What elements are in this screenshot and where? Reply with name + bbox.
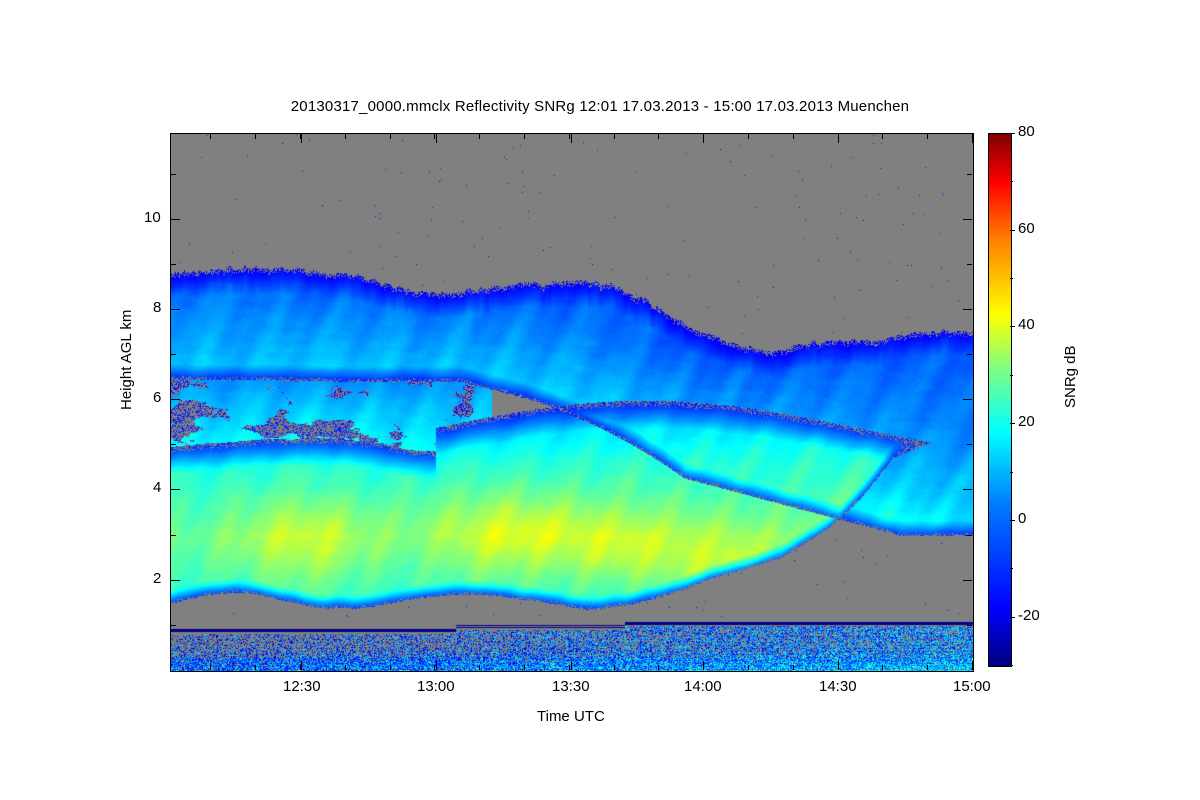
colorbar xyxy=(988,133,1012,667)
tick-mark xyxy=(614,134,615,139)
tick-mark xyxy=(569,665,570,670)
chart-title: 20130317_0000.mmclx Reflectivity SNRg 12… xyxy=(0,98,1200,115)
tick-mark xyxy=(345,665,346,670)
tick-mark xyxy=(963,399,972,400)
colorbar-tick-label: 80 xyxy=(1018,123,1035,140)
reflectivity-heatmap xyxy=(171,134,973,671)
tick-mark xyxy=(390,134,391,139)
colorbar-tick xyxy=(1010,423,1015,424)
tick-mark xyxy=(967,354,972,355)
tick-mark xyxy=(171,264,176,265)
colorbar-tick-label: -20 xyxy=(1018,607,1040,624)
x-tick-label: 14:30 xyxy=(819,678,857,695)
colorbar-minor-tick xyxy=(1010,278,1013,279)
tick-mark xyxy=(882,134,883,139)
tick-mark xyxy=(571,134,572,143)
tick-mark xyxy=(434,134,435,139)
tick-mark xyxy=(927,665,928,670)
tick-mark xyxy=(963,219,972,220)
tick-mark xyxy=(436,134,437,143)
tick-mark xyxy=(436,661,437,670)
colorbar-label: SNRg dB xyxy=(1062,345,1079,408)
tick-mark xyxy=(479,665,480,670)
tick-mark xyxy=(748,134,749,139)
tick-mark xyxy=(838,134,839,139)
tick-mark xyxy=(434,665,435,670)
y-axis-label: Height AGL km xyxy=(118,310,135,410)
tick-mark xyxy=(658,665,659,670)
y-tick-label: 10 xyxy=(144,209,161,226)
tick-mark xyxy=(927,134,928,139)
x-tick-label: 14:00 xyxy=(684,678,722,695)
tick-mark xyxy=(972,134,973,143)
y-tick-label: 2 xyxy=(153,570,161,587)
x-tick-label: 15:00 xyxy=(953,678,991,695)
tick-mark xyxy=(300,134,301,139)
colorbar-minor-tick xyxy=(1010,568,1013,569)
colorbar-tick xyxy=(1010,133,1015,134)
tick-mark xyxy=(210,134,211,139)
tick-mark xyxy=(171,444,176,445)
tick-mark xyxy=(171,354,176,355)
tick-mark xyxy=(171,174,176,175)
tick-mark xyxy=(210,665,211,670)
tick-mark xyxy=(171,309,180,310)
x-tick-label: 13:00 xyxy=(417,678,455,695)
tick-mark xyxy=(479,134,480,139)
tick-mark xyxy=(524,665,525,670)
tick-mark xyxy=(963,489,972,490)
tick-mark xyxy=(569,134,570,139)
tick-mark xyxy=(300,665,301,670)
tick-mark xyxy=(793,665,794,670)
plot-area xyxy=(170,133,974,672)
tick-mark xyxy=(972,661,973,670)
tick-mark xyxy=(301,134,302,143)
tick-mark xyxy=(658,134,659,139)
colorbar-minor-tick xyxy=(1010,375,1013,376)
y-tick-label: 8 xyxy=(153,299,161,316)
figure: 20130317_0000.mmclx Reflectivity SNRg 12… xyxy=(0,0,1200,800)
y-tick-label: 4 xyxy=(153,479,161,496)
tick-mark xyxy=(255,665,256,670)
colorbar-minor-tick xyxy=(1010,181,1013,182)
colorbar-tick-label: 20 xyxy=(1018,413,1035,430)
tick-mark xyxy=(614,665,615,670)
colorbar-tick-label: 60 xyxy=(1018,220,1035,237)
tick-mark xyxy=(967,625,972,626)
tick-mark xyxy=(967,535,972,536)
tick-mark xyxy=(571,661,572,670)
y-tick-label: 6 xyxy=(153,389,161,406)
tick-mark xyxy=(967,174,972,175)
tick-mark xyxy=(255,134,256,139)
colorbar-tick-label: 40 xyxy=(1018,316,1035,333)
x-axis-label: Time UTC xyxy=(537,708,605,725)
tick-mark xyxy=(171,219,180,220)
tick-mark xyxy=(301,661,302,670)
colorbar-tick xyxy=(1010,617,1015,618)
tick-mark xyxy=(963,580,972,581)
tick-mark xyxy=(882,665,883,670)
tick-mark xyxy=(793,134,794,139)
x-tick-label: 12:30 xyxy=(283,678,321,695)
tick-mark xyxy=(171,399,180,400)
colorbar-tick xyxy=(1010,326,1015,327)
tick-mark xyxy=(967,444,972,445)
tick-mark xyxy=(171,489,180,490)
colorbar-minor-tick xyxy=(1010,665,1013,666)
tick-mark xyxy=(838,665,839,670)
x-tick-label: 13:30 xyxy=(552,678,590,695)
tick-mark xyxy=(171,535,176,536)
tick-mark xyxy=(171,625,176,626)
tick-mark xyxy=(171,580,180,581)
tick-mark xyxy=(524,134,525,139)
tick-mark xyxy=(390,665,391,670)
tick-mark xyxy=(703,665,704,670)
colorbar-tick xyxy=(1010,520,1015,521)
colorbar-tick-label: 0 xyxy=(1018,510,1026,527)
colorbar-tick xyxy=(1010,230,1015,231)
tick-mark xyxy=(345,134,346,139)
tick-mark xyxy=(967,264,972,265)
tick-mark xyxy=(748,665,749,670)
colorbar-minor-tick xyxy=(1010,472,1013,473)
tick-mark xyxy=(703,134,704,139)
tick-mark xyxy=(963,309,972,310)
